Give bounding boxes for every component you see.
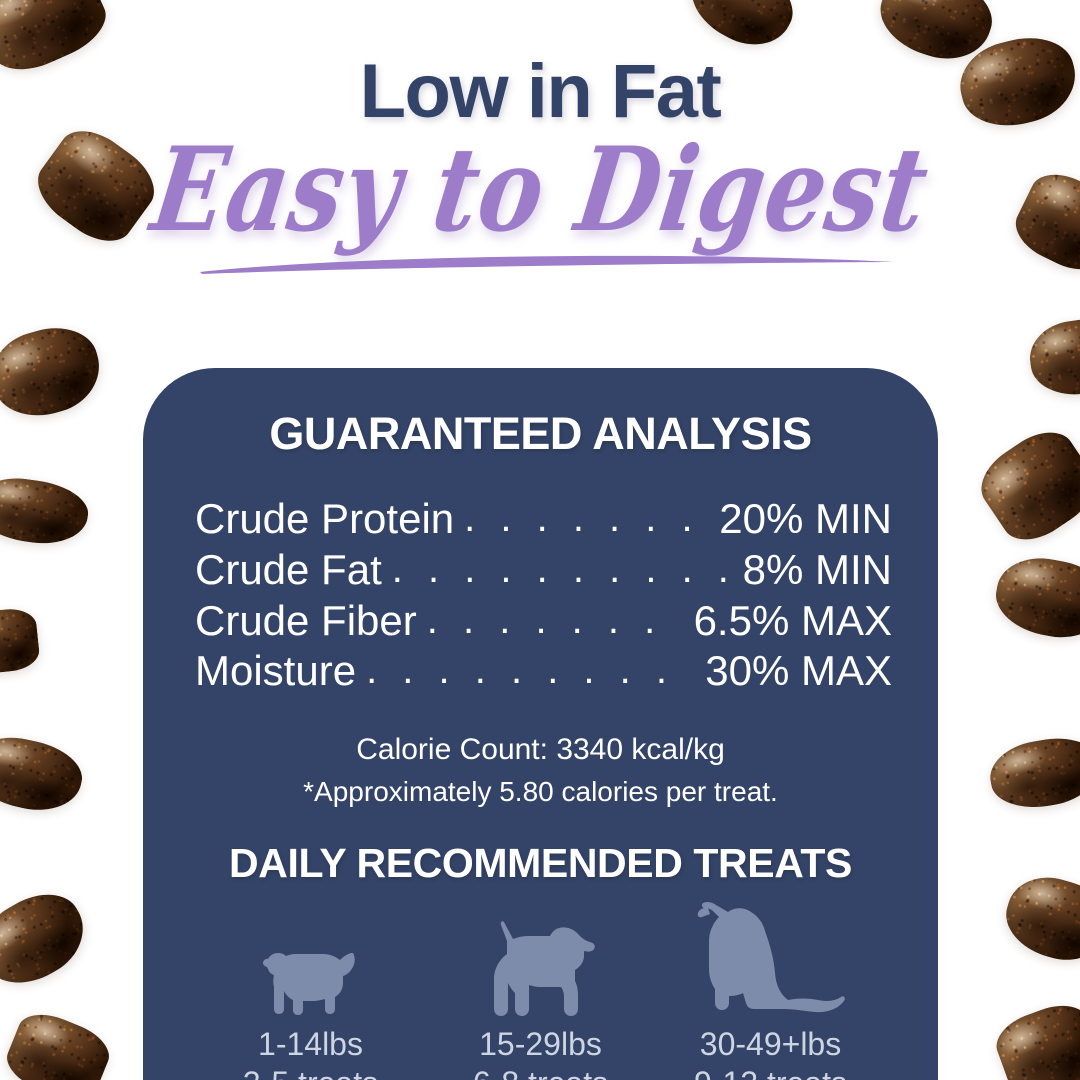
dog-size-label-large: 30-49+lbs 9-12 treats: [694, 1025, 847, 1080]
guaranteed-analysis-title: GUARANTEED ANALYSIS: [143, 408, 938, 460]
subtitle-script: Easy to Digest: [144, 123, 936, 260]
kibble-treat: [0, 472, 92, 549]
dog-size-label-small: 1-14lbs 3-5 treats: [243, 1025, 378, 1080]
analysis-dot-leader: . . . . . . . . . . . . .: [464, 494, 709, 542]
calorie-block: Calorie Count: 3340 kcal/kg *Approximate…: [143, 729, 938, 811]
dog-size-weight: 1-14lbs: [258, 1026, 363, 1062]
dog-size-weight: 30-49+lbs: [700, 1026, 841, 1062]
kibble-treat: [997, 867, 1080, 971]
kibble-treat: [989, 996, 1080, 1080]
analysis-label: Crude Protein: [195, 494, 454, 545]
analysis-row: Crude Fat . . . . . . . . . . . . . . . …: [195, 545, 892, 596]
dog-size-column-medium: 15-29lbs 6-8 treats: [446, 919, 636, 1080]
analysis-row: Moisture . . . . . . . . . . . . . . . .…: [195, 646, 892, 697]
kibble-treat: [1025, 313, 1080, 400]
guaranteed-analysis-list: Crude Protein . . . . . . . . . . . . . …: [195, 494, 892, 697]
analysis-dot-leader: . . . . . . . . . . . . . . . .: [366, 646, 695, 694]
analysis-value: 8% MIN: [743, 545, 892, 596]
large-dog-icon: [696, 901, 846, 1019]
analysis-row: Crude Fiber . . . . . . . . . . . . . . …: [195, 596, 892, 647]
dog-size-treats: 6-8 treats: [473, 1065, 608, 1080]
analysis-label: Crude Fat: [195, 545, 382, 596]
calorie-count: Calorie Count: 3340 kcal/kg: [143, 729, 938, 772]
medium-dog-icon: [480, 919, 602, 1019]
dog-size-treats: 3-5 treats: [243, 1065, 378, 1080]
kibble-treat: [969, 419, 1080, 553]
analysis-value: 20% MIN: [719, 494, 892, 545]
kibble-treat: [0, 879, 98, 1000]
analysis-row: Crude Protein . . . . . . . . . . . . . …: [195, 494, 892, 545]
small-dog-icon: [257, 939, 365, 1019]
analysis-dot-leader: . . . . . . . . . . . . . . . . . .: [392, 545, 733, 593]
analysis-label: Crude Fiber: [195, 596, 417, 647]
dog-size-treats: 9-12 treats: [694, 1065, 847, 1080]
analysis-dot-leader: . . . . . . . . . . . . . .: [427, 596, 684, 644]
kibble-treat: [0, 606, 41, 675]
dog-size-label-medium: 15-29lbs 6-8 treats: [473, 1025, 608, 1080]
analysis-label: Moisture: [195, 646, 356, 697]
kibble-treat: [985, 731, 1080, 815]
kibble-treat: [990, 551, 1080, 645]
infographic-stage: Low in Fat Easy to Digest GUARANTEED ANA…: [0, 0, 1080, 1080]
subtitle-wrap: Easy to Digest: [0, 135, 1080, 285]
nutrition-card: GUARANTEED ANALYSIS Crude Protein . . . …: [143, 368, 938, 1080]
dog-size-column-large: 30-49+lbs 9-12 treats: [676, 901, 866, 1080]
calorie-note: *Approximately 5.80 calories per treat.: [143, 772, 938, 812]
analysis-value: 6.5% MAX: [694, 596, 892, 647]
dog-size-guide: 1-14lbs 3-5 treats 15-29lbs 6-8 treats: [143, 901, 938, 1080]
kibble-treat: [0, 317, 109, 428]
daily-recommended-treats-title: DAILY RECOMMENDED TREATS: [143, 840, 938, 887]
page-title: Low in Fat: [0, 52, 1080, 131]
analysis-value: 30% MAX: [705, 646, 892, 697]
headline-block: Low in Fat Easy to Digest: [0, 52, 1080, 285]
kibble-treat: [0, 729, 88, 819]
dog-size-column-small: 1-14lbs 3-5 treats: [216, 939, 406, 1080]
dog-size-weight: 15-29lbs: [479, 1026, 602, 1062]
kibble-treat: [0, 1005, 116, 1080]
